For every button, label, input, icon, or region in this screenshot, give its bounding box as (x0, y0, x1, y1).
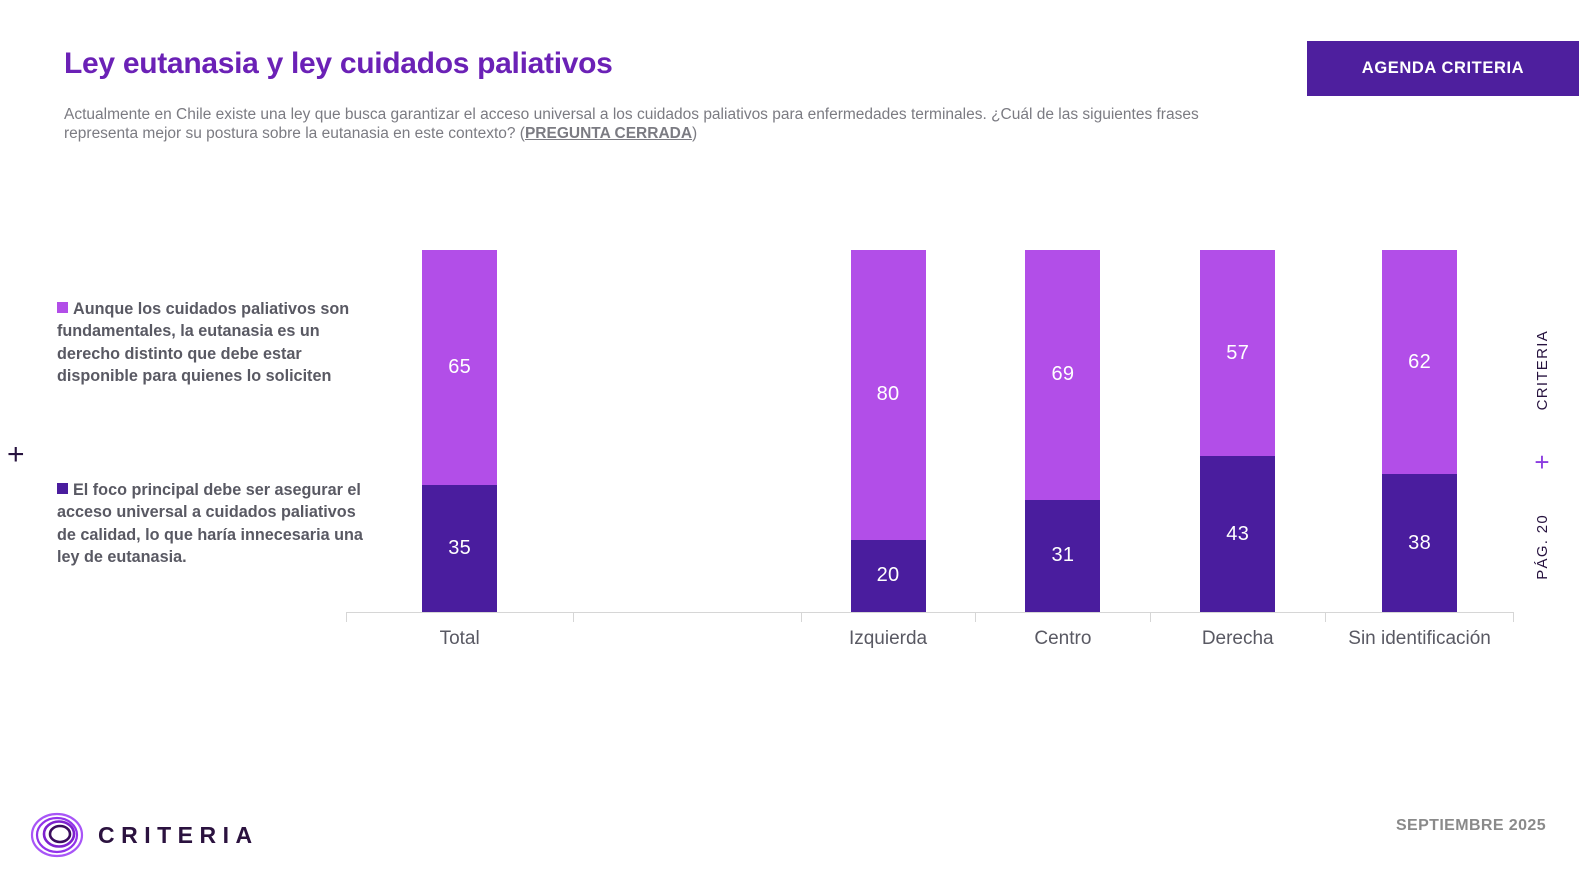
x-axis-labels: TotalIzquierdaCentroDerechaSin identific… (346, 628, 1514, 650)
bar-value-label: 62 (1408, 351, 1431, 374)
x-axis-line (346, 612, 1514, 613)
chart-plot-area: 65358020693157436238 (346, 250, 1514, 612)
bar-segment-upper[interactable]: 57 (1200, 250, 1275, 456)
x-axis-label: Izquierda (801, 628, 976, 650)
bar-segment-lower[interactable]: 43 (1200, 456, 1275, 612)
x-axis-label-spacer (573, 628, 800, 650)
chart-bar-column[interactable]: 6238 (1325, 250, 1514, 612)
x-axis-label: Derecha (1150, 628, 1325, 650)
bar-value-label: 57 (1226, 342, 1249, 365)
bar-segment-upper[interactable]: 69 (1025, 250, 1100, 500)
bar-segment-lower[interactable]: 20 (851, 540, 926, 612)
chart-bar-column[interactable]: 6931 (975, 250, 1150, 612)
bar-segment-upper[interactable]: 80 (851, 250, 926, 540)
x-axis-tick (1513, 612, 1514, 622)
bar-value-label: 43 (1226, 523, 1249, 546)
legend-swatch-icon-1 (57, 483, 68, 494)
x-axis-tick (346, 612, 347, 622)
bar-value-label: 65 (448, 356, 471, 379)
rail-brand-label: CRITERIA (1534, 330, 1551, 410)
right-side-rail: CRITERIA + PÁG. 20 (1527, 330, 1557, 580)
bar-value-label: 31 (1051, 544, 1074, 567)
plus-icon-left: + (7, 440, 25, 470)
bar-segment-lower[interactable]: 35 (422, 485, 497, 612)
x-axis-tick (573, 612, 574, 622)
rail-page-number: PÁG. 20 (1534, 514, 1551, 580)
criteria-logo: CRITERIA (30, 808, 259, 862)
bar-value-label: 38 (1408, 532, 1431, 555)
stacked-bar-chart: 65358020693157436238 TotalIzquierdaCentr… (346, 250, 1514, 620)
bar-segment-lower[interactable]: 38 (1382, 474, 1457, 612)
x-axis-label: Total (346, 628, 573, 650)
bar-segment-upper[interactable]: 62 (1382, 250, 1457, 474)
bar-value-label: 80 (877, 383, 900, 406)
question-subtitle: Actualmente en Chile existe una ley que … (64, 106, 1274, 144)
criteria-logo-icon (30, 808, 84, 862)
legend-swatch-icon-0 (57, 302, 68, 313)
page-title: Ley eutanasia y ley cuidados paliativos (64, 47, 613, 81)
criteria-logo-wordmark: CRITERIA (98, 822, 259, 849)
x-axis-label: Sin identificación (1325, 628, 1514, 650)
agenda-criteria-badge[interactable]: AGENDA CRITERIA (1307, 41, 1579, 96)
legend-item-label-1: El foco principal debe ser asegurar el a… (57, 481, 363, 566)
footer-date: SEPTIEMBRE 2025 (1396, 817, 1546, 835)
chart-spacer (573, 250, 800, 612)
legend-item-label-0: Aunque los cuidados paliativos son funda… (57, 300, 349, 385)
agenda-criteria-badge-label: AGENDA CRITERIA (1362, 59, 1524, 78)
bar-value-label: 69 (1051, 363, 1074, 386)
pregunta-cerrada-tag: PREGUNTA CERRADA (525, 125, 692, 142)
bar-segment-lower[interactable]: 31 (1025, 500, 1100, 612)
plus-icon-right: + (1534, 449, 1549, 475)
legend-item-1: El foco principal debe ser asegurar el a… (57, 479, 377, 568)
x-axis-tick (1150, 612, 1151, 622)
subtitle-tail-text: ) (692, 125, 697, 142)
x-axis-tick (801, 612, 802, 622)
bar-segment-upper[interactable]: 65 (422, 250, 497, 485)
chart-bar-column[interactable]: 8020 (801, 250, 976, 612)
chart-bar-column[interactable]: 6535 (346, 250, 573, 612)
x-axis-tick (975, 612, 976, 622)
chart-bar-column[interactable]: 5743 (1150, 250, 1325, 612)
x-axis-tick (1325, 612, 1326, 622)
bar-value-label: 35 (448, 537, 471, 560)
bar-value-label: 20 (877, 564, 900, 587)
x-axis-label: Centro (975, 628, 1150, 650)
legend-item-0: Aunque los cuidados paliativos son funda… (57, 298, 377, 387)
